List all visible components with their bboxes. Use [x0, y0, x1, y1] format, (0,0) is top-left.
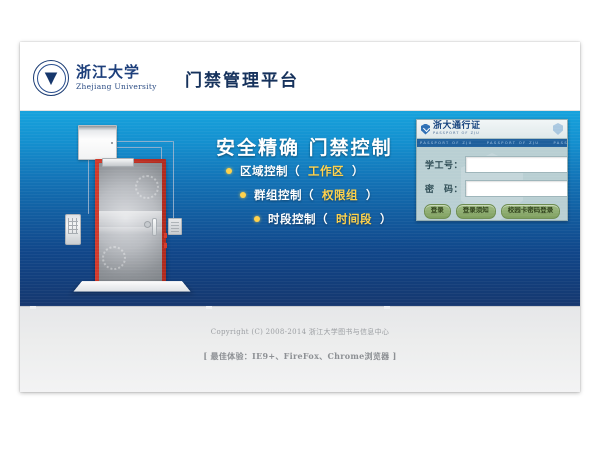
- ticker-text: PASSPORT OF ZJU: [553, 141, 567, 145]
- keypad-keys: [68, 218, 78, 234]
- bullet-dot-icon: [226, 168, 232, 174]
- wire: [115, 147, 161, 148]
- login-button[interactable]: 登录: [424, 204, 451, 219]
- bullet-dot-icon: [254, 216, 260, 222]
- shield-icon: [421, 124, 430, 135]
- feature-tail: ）: [352, 163, 364, 179]
- password-input[interactable]: [465, 180, 568, 197]
- id-field-label: 学工号：: [425, 158, 465, 171]
- door-hinge: [164, 233, 167, 238]
- page-title: 门禁管理平台: [185, 66, 299, 91]
- copyright-text: Copyright (C) 2008-2014 浙江大学图书与信息中心: [20, 327, 580, 337]
- login-title-cn: 浙大通行证: [433, 122, 481, 131]
- university-logo[interactable]: 浙江大学 Zhejiang University: [33, 60, 157, 96]
- browser-support-text: [ 最佳体验：IE9+、FireFox、Chrome浏览器 ]: [20, 351, 580, 362]
- password-field-label: 密 码：: [425, 182, 465, 195]
- hero-banner: 安全精确 门禁控制 区域控制（工作区） 群组控制（权限组） 时段控制（时间段） …: [20, 111, 580, 306]
- page-container: 浙江大学 Zhejiang University 门禁管理平台: [20, 42, 580, 392]
- seal-mark: [45, 72, 58, 85]
- feature-highlight: 权限组: [322, 187, 358, 203]
- shield-watermark-icon: [553, 123, 563, 135]
- door-controller-box-icon: [78, 125, 117, 160]
- feature-highlight: 工作区: [308, 163, 344, 179]
- login-notice-button[interactable]: 登录须知: [456, 204, 496, 219]
- feature-tail: ）: [366, 187, 378, 203]
- wire: [115, 141, 173, 142]
- wire: [173, 141, 174, 219]
- login-ticker: PASSPORT OF ZJU PASSPORT OF ZJU PASSPORT…: [417, 139, 567, 147]
- feature-item-area-control: 区域控制（工作区）: [226, 163, 392, 179]
- feature-list: 区域控制（工作区） 群组控制（权限组） 时段控制（时间段）: [226, 163, 392, 235]
- login-title-en: PASSPORT OF ZJU: [433, 132, 481, 136]
- door-closer: [102, 158, 134, 167]
- feature-label: 区域控制（: [240, 163, 300, 179]
- door-frame: [95, 159, 166, 284]
- login-form: 学工号： 密 码： 登录 登录须知 校园卡密码登录: [417, 147, 567, 219]
- feature-highlight: 时间段: [336, 211, 372, 227]
- site-footer: Copyright (C) 2008-2014 浙江大学图书与信息中心 [ 最佳…: [20, 306, 580, 392]
- feature-item-time-control: 时段控制（时间段）: [254, 211, 392, 227]
- student-staff-id-input[interactable]: [465, 156, 568, 173]
- feature-label: 群组控制（: [254, 187, 314, 203]
- login-panel: 浙大通行证 PASSPORT OF ZJU PASSPORT OF ZJU PA…: [416, 119, 568, 221]
- wire: [88, 158, 89, 214]
- logo-text-cn: 浙江大学: [76, 65, 157, 80]
- floor-plate: [73, 281, 190, 291]
- feature-tail: ）: [380, 211, 392, 227]
- site-header: 浙江大学 Zhejiang University 门禁管理平台: [20, 42, 580, 111]
- lock-icon: [144, 221, 151, 228]
- field-row-password: 密 码：: [425, 180, 559, 197]
- door-handle: [152, 218, 157, 236]
- door-panel: [99, 163, 162, 282]
- card-reader-grid: [171, 221, 179, 232]
- field-row-id: 学工号：: [425, 156, 559, 173]
- feature-label: 时段控制（: [268, 211, 328, 227]
- gear-icon: [135, 175, 159, 199]
- ticker-text: PASSPORT OF ZJU: [420, 141, 473, 145]
- gear-icon: [102, 246, 126, 270]
- logo-text-en: Zhejiang University: [76, 82, 157, 91]
- door-access-control-illustration: [42, 119, 202, 299]
- feature-item-group-control: 群组控制（权限组）: [240, 187, 392, 203]
- controller-indicator: [111, 142, 113, 144]
- login-button-row: 登录 登录须知 校园卡密码登录: [425, 204, 559, 219]
- footer-notches: [20, 306, 580, 309]
- keypad-reader-icon: [65, 214, 81, 245]
- bullet-dot-icon: [240, 192, 246, 198]
- campus-card-login-button[interactable]: 校园卡密码登录: [501, 204, 561, 219]
- card-reader-icon: [168, 218, 182, 235]
- login-panel-header: 浙大通行证 PASSPORT OF ZJU: [417, 120, 567, 139]
- university-seal-icon: [33, 60, 69, 96]
- ticker-text: PASSPORT OF ZJU: [487, 141, 540, 145]
- door-hinge: [164, 243, 167, 248]
- banner-slogan: 安全精确 门禁控制: [216, 133, 393, 160]
